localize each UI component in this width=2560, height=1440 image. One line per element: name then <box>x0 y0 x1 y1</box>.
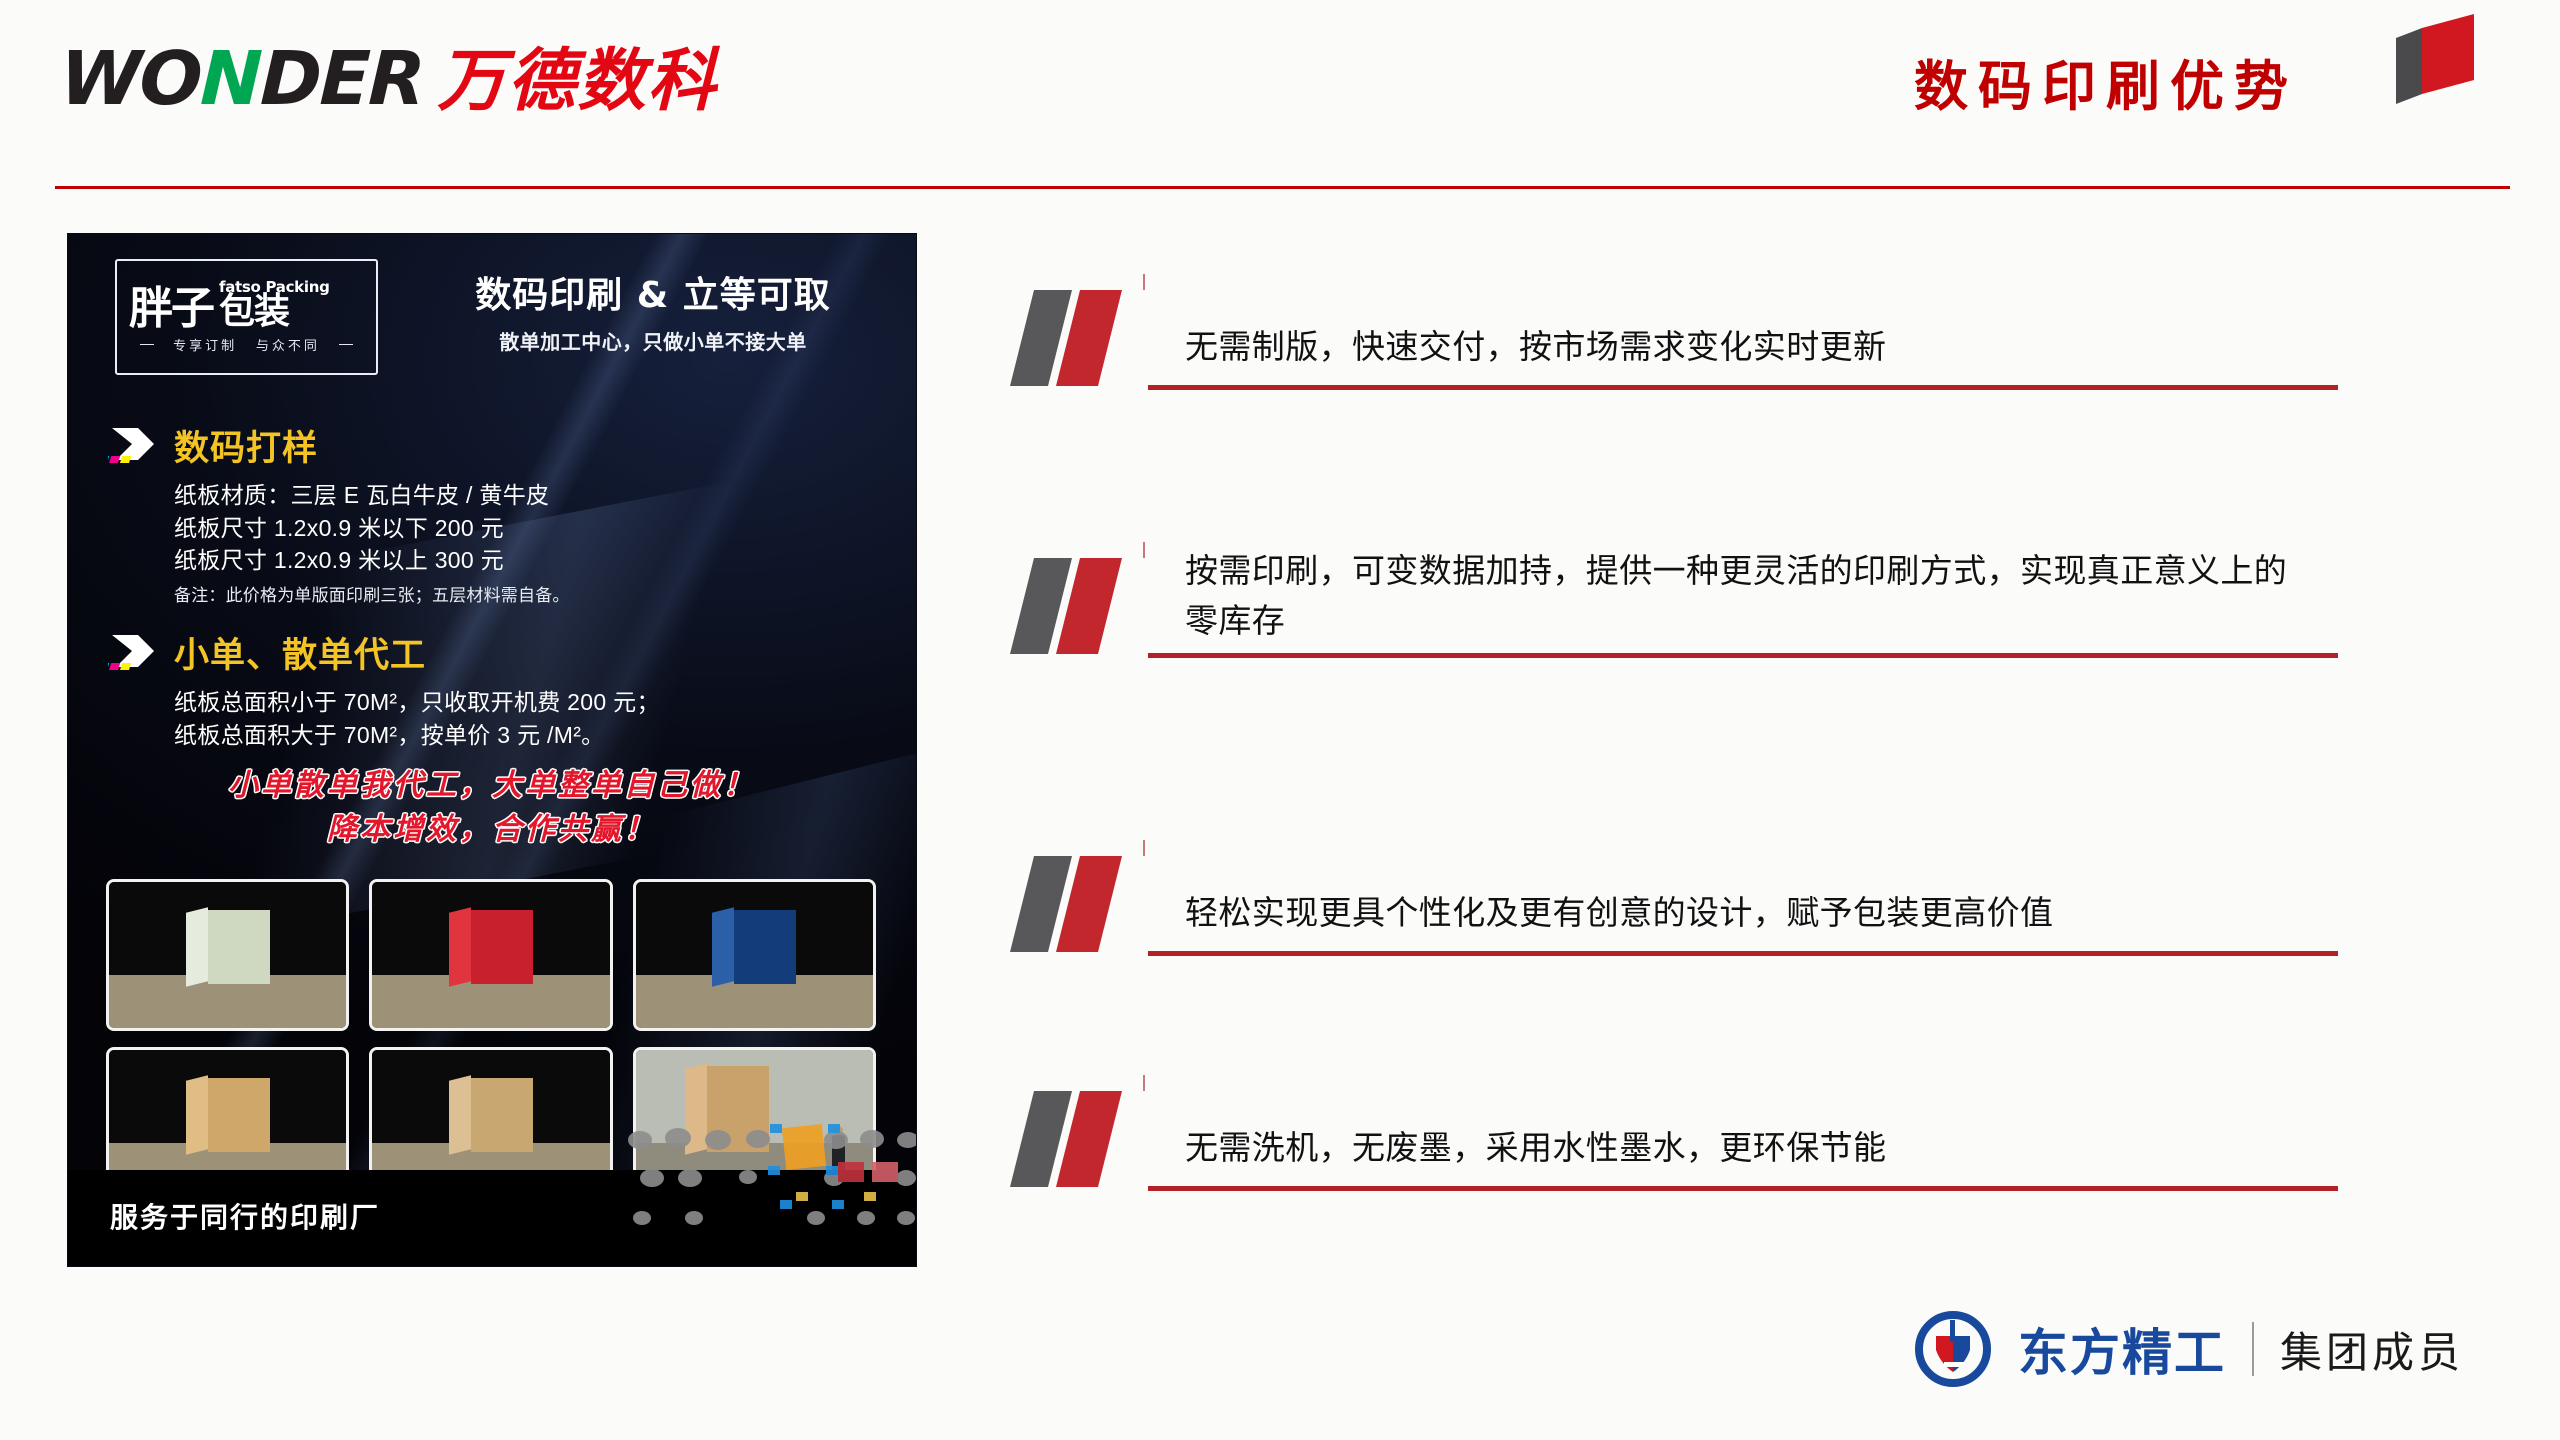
section-2-body: 纸板总面积小于 70M²，只收取开机费 200 元； 纸板总面积大于 70M²，… <box>174 686 660 751</box>
fatso-logo-cn-word: 包装 <box>219 295 330 329</box>
benefit-4-underline <box>1148 1186 2338 1191</box>
poster-section-1: 数码打样 纸板材质：三层 E 瓦白牛皮 / 黄牛皮 纸板尺寸 1.2x0.9 米… <box>108 420 570 606</box>
poster-slogan: 小单散单我代工，大单整单自己做！ 降本增效，合作共赢！ <box>68 764 916 851</box>
benefit-item-4: 无需洗机，无废墨，采用水性墨水，更环保节能 <box>1010 1073 2340 1191</box>
promo-poster: 胖子 fatso Packing 包装 专享订制 与众不同 数码印刷 & 立等可… <box>68 234 916 1266</box>
chevron-cmyk-icon <box>108 633 160 673</box>
poster-footer: 服务于同行的印刷厂 <box>68 1170 916 1266</box>
benefit-3-text: 轻松实现更具个性化及更有创意的设计，赋予包装更高价值 <box>1185 888 2305 938</box>
poster-subheadline: 散单加工中心，只做小单不接大单 <box>418 326 888 355</box>
halftone-dots-decoration <box>620 1122 916 1266</box>
footer-logo-cn: 东方精工 <box>2018 1313 2226 1385</box>
section-1-line-3: 纸板尺寸 1.2x0.9 米以上 300 元 <box>174 544 570 577</box>
poster-footer-text: 服务于同行的印刷厂 <box>110 1196 380 1236</box>
footer-divider <box>2252 1322 2254 1376</box>
benefit-4-text: 无需洗机，无废墨，采用水性墨水，更环保节能 <box>1185 1123 2305 1173</box>
section-2-line-2: 纸板总面积大于 70M²，按单价 3 元 /M²。 <box>174 719 660 752</box>
double-slash-marker-icon <box>1010 856 1160 956</box>
brand-n-green: N <box>199 36 262 122</box>
slogan-line-2: 降本增效，合作共赢！ <box>68 808 916 852</box>
section-1-body: 纸板材质：三层 E 瓦白牛皮 / 黄牛皮 纸板尺寸 1.2x0.9 米以下 20… <box>174 479 570 606</box>
section-2-title: 小单、散单代工 <box>174 627 426 678</box>
brand-wo: WO <box>58 36 202 122</box>
logo-dash-right <box>339 344 353 345</box>
benefit-item-2: 按需印刷，可变数据加持，提供一种更灵活的印刷方式，实现真正意义上的零库存 <box>1010 512 2340 658</box>
tick-mark <box>1143 840 1145 856</box>
slogan-line-1: 小单散单我代工，大单整单自己做！ <box>68 764 916 808</box>
header-divider <box>55 186 2510 189</box>
poster-headline-group: 数码印刷 & 立等可取 散单加工中心，只做小单不接大单 <box>418 266 888 355</box>
product-photo <box>633 879 876 1031</box>
chevron-cmyk-icon <box>108 426 160 466</box>
dongfang-jinggong-emblem-icon <box>1914 1310 1992 1388</box>
benefit-1-text: 无需制版，快速交付，按市场需求变化实时更新 <box>1185 322 2305 372</box>
poster-headline: 数码印刷 & 立等可取 <box>418 266 888 318</box>
product-photo <box>369 879 612 1031</box>
brand-der: DER <box>259 36 425 122</box>
section-1-line-2: 纸板尺寸 1.2x0.9 米以下 200 元 <box>174 512 570 545</box>
fatso-tag-left: 专享订制 <box>173 335 237 354</box>
footer-logo-sub: 集团成员 <box>2280 1319 2464 1380</box>
poster-section-2: 小单、散单代工 纸板总面积小于 70M²，只收取开机费 200 元； 纸板总面积… <box>108 627 660 751</box>
logo-dash-left <box>140 344 154 345</box>
double-slash-marker-icon <box>1010 1091 1160 1191</box>
benefit-2-underline <box>1148 653 2338 658</box>
fatso-tag-right: 与众不同 <box>256 335 320 354</box>
double-slash-marker-icon <box>1010 558 1160 658</box>
benefit-1-underline <box>1148 385 2338 390</box>
section-1-note: 备注：此价格为单版面印刷三张；五层材料需自备。 <box>174 581 570 606</box>
benefit-item-3: 轻松实现更具个性化及更有创意的设计，赋予包装更高价值 <box>1010 838 2340 956</box>
brand-wordmark-cn: 万德数科 <box>437 48 717 116</box>
double-slash-marker-icon <box>1010 290 1160 390</box>
brand-wordmark-en: WONDER <box>59 42 425 116</box>
section-1-title: 数码打样 <box>174 420 318 471</box>
benefit-2-text: 按需印刷，可变数据加持，提供一种更灵活的印刷方式，实现真正意义上的零库存 <box>1185 546 2305 646</box>
wonder-brand-logo: WONDER 万德数科 <box>60 42 717 116</box>
slide-root: WONDER 万德数科 数码印刷优势 胖子 fatso Packing 包装 专… <box>0 0 2560 1440</box>
page-title: 数码印刷优势 <box>1914 42 2298 121</box>
fatso-packing-logo: 胖子 fatso Packing 包装 专享订制 与众不同 <box>115 259 378 375</box>
corner-book-icon <box>2388 14 2480 106</box>
product-photo <box>106 879 349 1031</box>
benefit-item-1: 无需制版，快速交付，按市场需求变化实时更新 <box>1010 272 2340 390</box>
tick-mark <box>1143 274 1145 290</box>
footer-group-logo: 东方精工 集团成员 <box>1914 1310 2464 1388</box>
section-1-line-1: 纸板材质：三层 E 瓦白牛皮 / 黄牛皮 <box>174 479 570 512</box>
fatso-logo-cn-mark: 胖子 <box>129 289 213 329</box>
tick-mark <box>1143 1075 1145 1091</box>
benefit-3-underline <box>1148 951 2338 956</box>
section-2-line-1: 纸板总面积小于 70M²，只收取开机费 200 元； <box>174 686 660 719</box>
tick-mark <box>1143 542 1145 558</box>
